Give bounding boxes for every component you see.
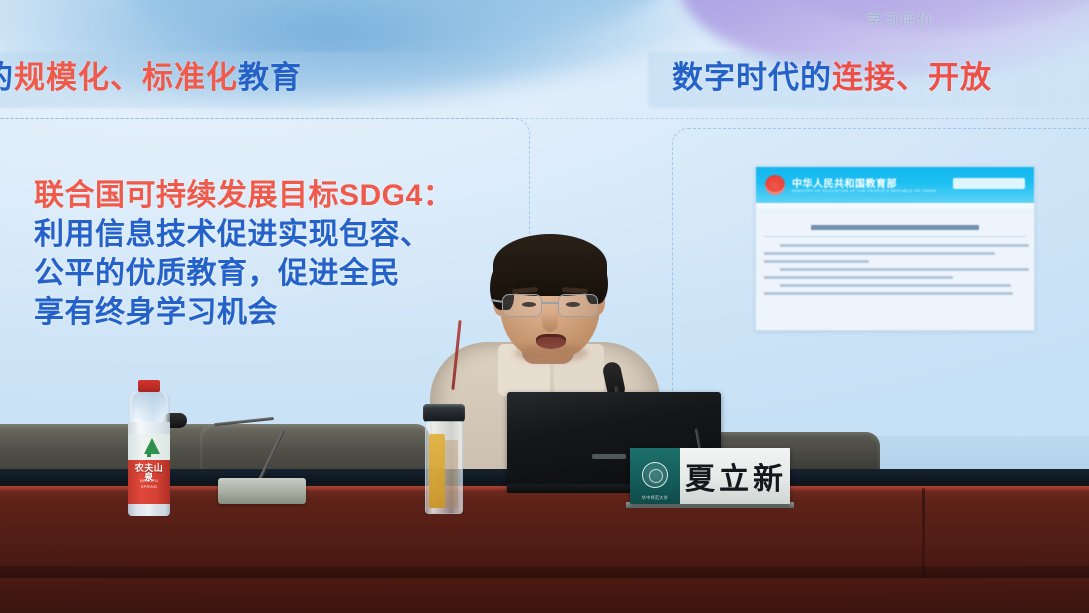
paragraph-line-1: 联合国可持续发展目标SDG4：: [34, 176, 453, 215]
university-seal-icon: [642, 462, 668, 488]
headline-right: 数字时代的连接、开放: [672, 62, 992, 93]
screenshot-root: 学习评价 的规模化、标准化教育 数字时代的连接、开放 联合国可持续发展目标SDG…: [0, 0, 1089, 613]
headline-left: 的规模化、标准化教育: [0, 62, 302, 93]
search-input: [953, 178, 1025, 189]
nameplate: 华中师范大学 夏立新: [630, 448, 790, 504]
national-emblem-icon: [765, 175, 785, 195]
mountain-logo-base: [147, 452, 151, 457]
moe-header-bar: 中华人民共和国教育部 MINISTRY OF EDUCATION OF THE …: [756, 167, 1034, 203]
eyeglasses-icon: [500, 294, 602, 318]
headline-left-part-2: 规模化、标准化: [14, 60, 238, 95]
paragraph-line-2: 利用信息技术促进实现包容、: [34, 215, 453, 254]
headline-left-part-1: 的: [0, 60, 14, 95]
slide-section-label: 学习评价: [866, 9, 934, 30]
text-line: [780, 284, 1011, 287]
text-line: [780, 244, 1029, 247]
tumbler-tea-leaves: [445, 440, 458, 508]
paragraph-line-3: 公平的优质教育，促进全民: [34, 254, 453, 293]
moe-nav-bar: [756, 203, 1034, 213]
glasses-bridge: [542, 302, 558, 304]
headline-right-part-2: 连接、开放: [832, 60, 992, 95]
lens-right: [558, 294, 598, 317]
text-line: [764, 276, 953, 279]
nameplate-emblem-panel: 华中师范大学: [630, 448, 680, 504]
lens-left: [502, 294, 542, 317]
text-line: [764, 260, 869, 263]
chin-shadow: [514, 344, 588, 362]
text-line: [764, 292, 1013, 295]
bottle-brand-subtext: NONGFU SPRING: [131, 478, 167, 490]
tumbler-tea-liquid: [429, 434, 445, 508]
headline-right-part-1: 数字时代的: [672, 60, 832, 95]
university-seal-inner: [649, 469, 663, 483]
bottle-bottom: [128, 504, 170, 516]
moe-document-title: [811, 225, 979, 230]
headline-left-part-3: 教育: [238, 60, 302, 95]
tumbler-lid: [423, 404, 465, 422]
left-microphone-base: [218, 478, 306, 504]
nameplate-institution: 华中师范大学: [633, 495, 677, 501]
nameplate-name: 夏立新: [684, 454, 788, 498]
water-bottle: 农夫山泉 NONGFU SPRING: [128, 392, 170, 516]
moe-document-body: [764, 219, 1026, 326]
laptop-logo: [592, 454, 626, 459]
bottle-cap: [138, 380, 160, 392]
desk-lower-panel: [0, 578, 1089, 613]
divider: [764, 236, 1026, 237]
bottle-shoulder: [132, 392, 166, 422]
text-line: [780, 268, 1029, 271]
paragraph-line-4: 享有终身学习机会: [34, 293, 453, 332]
slide-paragraph: 联合国可持续发展目标SDG4： 利用信息技术促进实现包容、 公平的优质教育，促进…: [34, 176, 453, 332]
moe-website-thumbnail: 中华人民共和国教育部 MINISTRY OF EDUCATION OF THE …: [755, 166, 1035, 331]
text-line: [764, 252, 995, 255]
tea-tumbler: [424, 404, 464, 514]
moe-site-subtitle: MINISTRY OF EDUCATION OF THE PEOPLE'S RE…: [792, 188, 936, 193]
